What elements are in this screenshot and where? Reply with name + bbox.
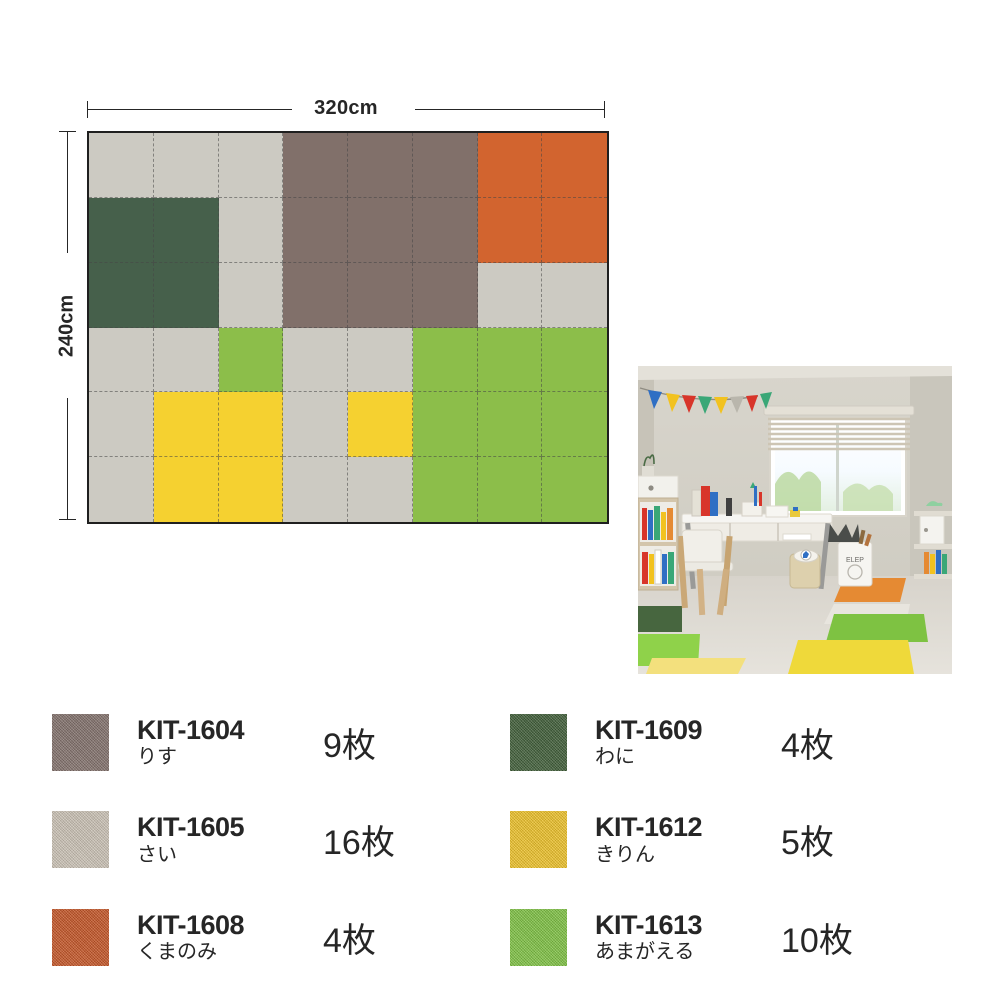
- swatch-texture: [510, 714, 567, 771]
- room-photo-illustration: ELEP: [638, 366, 952, 674]
- legend-product-code: KIT-1613: [595, 911, 777, 939]
- tile-cell: [413, 392, 478, 457]
- tile-cell: [219, 328, 284, 393]
- legend-item: KIT-1608くまのみ4枚: [0, 889, 500, 986]
- tile-cell: [542, 263, 607, 328]
- tile-cell: [154, 133, 219, 198]
- legend-text-block: KIT-1609わに: [595, 716, 777, 769]
- legend-product-code: KIT-1608: [137, 911, 319, 939]
- tile-cell: [154, 457, 219, 522]
- width-dimension-line-right: [415, 109, 605, 110]
- tile-cell: [283, 457, 348, 522]
- tile-cell: [283, 263, 348, 328]
- tile-cell: [219, 392, 284, 457]
- swatch-texture: [510, 909, 567, 966]
- tile-cell: [283, 392, 348, 457]
- height-dimension-line-bottom: [67, 398, 68, 520]
- tile-cell: [478, 263, 543, 328]
- swatch-texture: [52, 811, 109, 868]
- legend-item: KIT-1612きりん5枚: [500, 791, 1000, 888]
- height-dimension: 240cm: [54, 131, 80, 520]
- tile-cell: [413, 457, 478, 522]
- legend-item: KIT-1609わに4枚: [500, 694, 1000, 791]
- tile-cell: [348, 392, 413, 457]
- legend-product-name: わに: [595, 745, 777, 769]
- tile-cell: [89, 328, 154, 393]
- height-dimension-label: 240cm: [56, 286, 79, 364]
- width-dimension-line-left: [87, 109, 292, 110]
- tile-cell: [348, 328, 413, 393]
- tile-layout-diagram: 320cm 240cm: [0, 0, 640, 560]
- legend-text-block: KIT-1608くまのみ: [137, 911, 319, 964]
- legend-swatch: [510, 811, 567, 868]
- tile-cell: [154, 263, 219, 328]
- tile-cell: [154, 328, 219, 393]
- tile-cell: [89, 392, 154, 457]
- tile-cell: [478, 328, 543, 393]
- legend-tile-count: 16枚: [323, 815, 395, 864]
- tile-cell: [542, 198, 607, 263]
- legend-product-name: りす: [137, 745, 319, 769]
- legend-swatch: [52, 909, 109, 966]
- tile-cell: [413, 133, 478, 198]
- width-dimension-label: 320cm: [306, 95, 386, 121]
- legend-text-block: KIT-1604りす: [137, 716, 319, 769]
- swatch-texture: [52, 714, 109, 771]
- tile-cell: [89, 198, 154, 263]
- tile-cell: [542, 328, 607, 393]
- tile-cell: [478, 392, 543, 457]
- tile-cell: [348, 133, 413, 198]
- legend-tile-count: 4枚: [323, 913, 376, 962]
- tile-cell: [542, 133, 607, 198]
- legend-item: KIT-1604りす9枚: [0, 694, 500, 791]
- svg-text:ELEP: ELEP: [846, 557, 864, 564]
- tile-cell: [413, 328, 478, 393]
- tile-cell: [89, 457, 154, 522]
- legend-product-name: さい: [137, 843, 319, 867]
- tile-cell: [283, 198, 348, 263]
- tile-cell: [542, 457, 607, 522]
- tile-cell: [219, 133, 284, 198]
- tile-cell: [89, 133, 154, 198]
- tile-cell: [542, 392, 607, 457]
- tile-cell: [219, 263, 284, 328]
- legend-swatch: [52, 714, 109, 771]
- legend-product-name: くまのみ: [137, 940, 319, 964]
- legend-swatch: [510, 909, 567, 966]
- tile-cell: [478, 198, 543, 263]
- tile-cell: [219, 198, 284, 263]
- legend-text-block: KIT-1605さい: [137, 813, 319, 866]
- legend-tile-count: 10枚: [781, 913, 853, 962]
- legend-swatch: [52, 811, 109, 868]
- tile-cell: [154, 392, 219, 457]
- tile-legend: KIT-1604りす9枚KIT-1609わに4枚KIT-1605さい16枚KIT…: [0, 694, 1000, 986]
- legend-text-block: KIT-1613あまがえる: [595, 911, 777, 964]
- swatch-texture: [510, 811, 567, 868]
- tile-cell: [478, 133, 543, 198]
- tile-cell: [219, 457, 284, 522]
- tile-cell: [413, 263, 478, 328]
- legend-tile-count: 9枚: [323, 718, 376, 767]
- room-photo: ELEP: [638, 366, 952, 674]
- legend-product-code: KIT-1612: [595, 813, 777, 841]
- tile-cell: [283, 328, 348, 393]
- tile-cell: [89, 263, 154, 328]
- legend-tile-count: 4枚: [781, 718, 834, 767]
- legend-item: KIT-1613あまがえる10枚: [500, 889, 1000, 986]
- legend-product-code: KIT-1604: [137, 716, 319, 744]
- height-dimension-line-top: [67, 131, 68, 253]
- tile-cell: [348, 263, 413, 328]
- width-dimension: 320cm: [87, 96, 605, 122]
- tile-cell: [283, 133, 348, 198]
- legend-product-name: あまがえる: [595, 940, 777, 964]
- legend-text-block: KIT-1612きりん: [595, 813, 777, 866]
- legend-item: KIT-1605さい16枚: [0, 791, 500, 888]
- tile-cell: [154, 198, 219, 263]
- tile-cell: [413, 198, 478, 263]
- legend-product-name: きりん: [595, 843, 777, 867]
- tile-cell: [348, 457, 413, 522]
- tile-cell: [478, 457, 543, 522]
- legend-product-code: KIT-1605: [137, 813, 319, 841]
- legend-swatch: [510, 714, 567, 771]
- tile-cell: [348, 198, 413, 263]
- legend-tile-count: 5枚: [781, 815, 834, 864]
- swatch-texture: [52, 909, 109, 966]
- legend-product-code: KIT-1609: [595, 716, 777, 744]
- tile-grid: [87, 131, 609, 524]
